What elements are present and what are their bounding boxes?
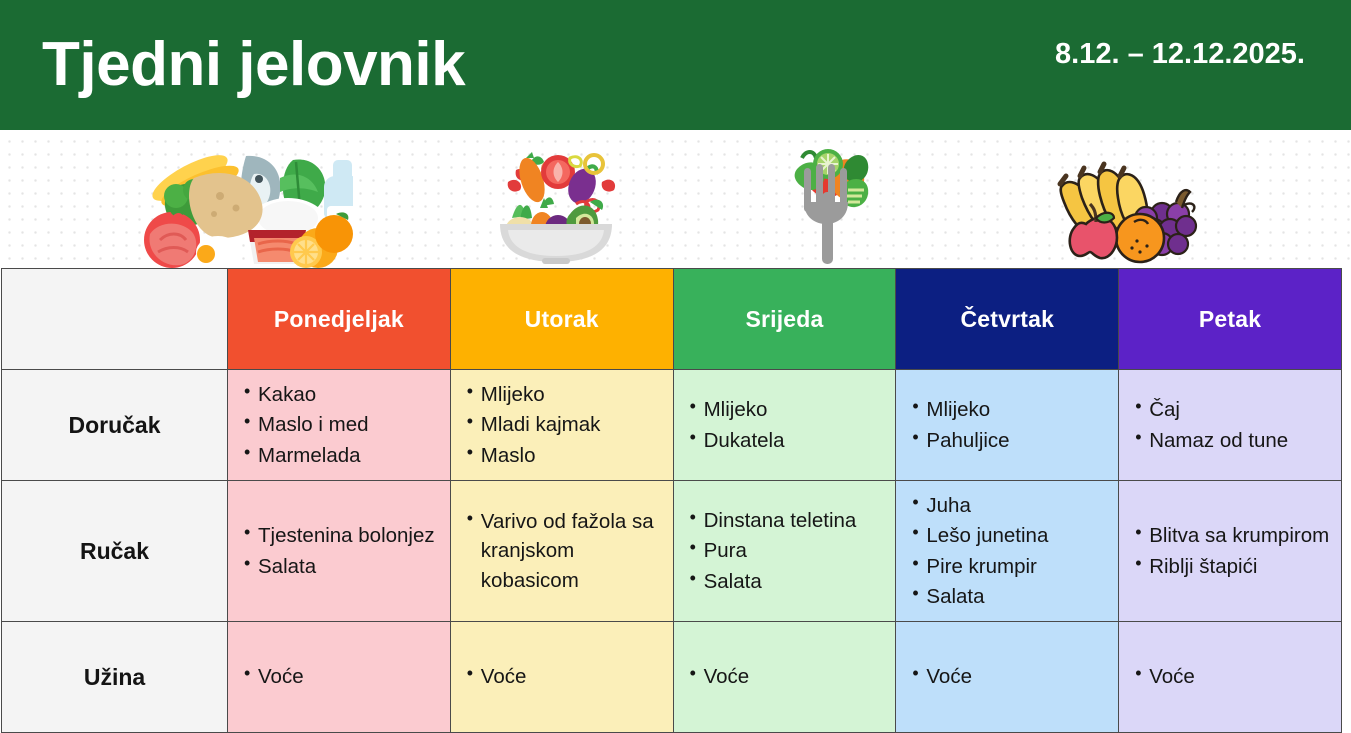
menu-item-list: KakaoMaslo i medMarmelada bbox=[228, 380, 450, 469]
table-header-row: Ponedjeljak Utorak Srijeda Četvrtak Peta… bbox=[2, 269, 1342, 370]
menu-item-list: Dinstana teletinaPuraSalata bbox=[674, 506, 896, 595]
menu-item-list: Voće bbox=[1119, 662, 1341, 691]
menu-item: Lešo junetina bbox=[912, 521, 1118, 550]
menu-cell-lunch-tuesday: Varivo od fažola sa kranjskom kobasicom bbox=[450, 481, 673, 622]
menu-item-list: MlijekoDukatela bbox=[674, 395, 896, 454]
menu-cell-lunch-thursday: JuhaLešo junetinaPire krumpirSalata bbox=[896, 481, 1119, 622]
menu-cell-snack-tuesday: Voće bbox=[450, 622, 673, 733]
table-row-lunch: Ručak Tjestenina bolonjezSalata Varivo o… bbox=[2, 481, 1342, 622]
menu-item: Pura bbox=[690, 536, 896, 565]
menu-item: Voće bbox=[467, 662, 673, 691]
weekly-menu-page: Tjedni jelovnik 8.12. – 12.12.2025. bbox=[0, 0, 1351, 729]
menu-cell-snack-monday: Voće bbox=[228, 622, 451, 733]
menu-item: Pahuljice bbox=[912, 426, 1118, 455]
day-header-friday: Petak bbox=[1119, 269, 1342, 370]
menu-item: Marmelada bbox=[244, 441, 450, 470]
header-banner: Tjedni jelovnik 8.12. – 12.12.2025. bbox=[0, 0, 1351, 130]
menu-cell-lunch-monday: Tjestenina bolonjezSalata bbox=[228, 481, 451, 622]
menu-item: Riblji štapići bbox=[1135, 552, 1341, 581]
menu-item-list: ČajNamaz od tune bbox=[1119, 395, 1341, 454]
menu-cell-breakfast-tuesday: MlijekoMladi kajmakMaslo bbox=[450, 370, 673, 481]
menu-item: Tjestenina bolonjez bbox=[244, 521, 450, 550]
day-header-wednesday: Srijeda bbox=[673, 269, 896, 370]
menu-cell-breakfast-friday: ČajNamaz od tune bbox=[1119, 370, 1342, 481]
menu-cell-breakfast-wednesday: MlijekoDukatela bbox=[673, 370, 896, 481]
menu-item: Dinstana teletina bbox=[690, 506, 896, 535]
menu-item-list: Tjestenina bolonjezSalata bbox=[228, 521, 450, 580]
vegetable-salad-bowl-illustration bbox=[486, 146, 626, 264]
menu-item: Maslo bbox=[467, 441, 673, 470]
table-row-breakfast: Doručak KakaoMaslo i medMarmelada Mlijek… bbox=[2, 370, 1342, 481]
page-title: Tjedni jelovnik bbox=[42, 34, 465, 96]
weekly-menu-table: Ponedjeljak Utorak Srijeda Četvrtak Peta… bbox=[1, 268, 1342, 733]
menu-item-list: MlijekoMladi kajmakMaslo bbox=[451, 380, 673, 469]
menu-cell-breakfast-monday: KakaoMaslo i medMarmelada bbox=[228, 370, 451, 481]
menu-item: Voće bbox=[244, 662, 450, 691]
menu-item-list: Voće bbox=[451, 662, 673, 691]
healthy-food-assortment-illustration bbox=[128, 148, 353, 268]
menu-item: Kakao bbox=[244, 380, 450, 409]
table-corner-cell bbox=[2, 269, 228, 370]
fork-with-vegetables-illustration bbox=[782, 140, 878, 266]
menu-item: Salata bbox=[244, 552, 450, 581]
day-header-thursday: Četvrtak bbox=[896, 269, 1119, 370]
menu-item-list: Blitva sa krumpiromRiblji štapići bbox=[1119, 521, 1341, 580]
menu-item: Salata bbox=[690, 567, 896, 596]
menu-item: Mlijeko bbox=[690, 395, 896, 424]
menu-item: Mlijeko bbox=[467, 380, 673, 409]
menu-item: Varivo od fažola sa kranjskom kobasicom bbox=[467, 507, 673, 594]
table-row-snack: Užina Voće Voće Voće Voće Voće bbox=[2, 622, 1342, 733]
menu-item: Juha bbox=[912, 491, 1118, 520]
meal-label-lunch: Ručak bbox=[2, 481, 228, 622]
menu-item: Dukatela bbox=[690, 426, 896, 455]
menu-cell-snack-friday: Voće bbox=[1119, 622, 1342, 733]
menu-item-list: Voće bbox=[674, 662, 896, 691]
menu-item: Maslo i med bbox=[244, 410, 450, 439]
menu-item: Salata bbox=[912, 582, 1118, 611]
menu-item: Mlijeko bbox=[912, 395, 1118, 424]
menu-item: Voće bbox=[690, 662, 896, 691]
menu-cell-lunch-friday: Blitva sa krumpiromRiblji štapići bbox=[1119, 481, 1342, 622]
menu-cell-breakfast-thursday: MlijekoPahuljice bbox=[896, 370, 1119, 481]
menu-item: Blitva sa krumpirom bbox=[1135, 521, 1341, 550]
menu-item: Čaj bbox=[1135, 395, 1341, 424]
menu-item: Namaz od tune bbox=[1135, 426, 1341, 455]
date-range-label: 8.12. – 12.12.2025. bbox=[1055, 38, 1305, 93]
menu-item-list: Varivo od fažola sa kranjskom kobasicom bbox=[451, 507, 673, 594]
day-header-tuesday: Utorak bbox=[450, 269, 673, 370]
menu-item-list: Voće bbox=[228, 662, 450, 691]
day-header-monday: Ponedjeljak bbox=[228, 269, 451, 370]
menu-item-list: MlijekoPahuljice bbox=[896, 395, 1118, 454]
meal-label-snack: Užina bbox=[2, 622, 228, 733]
menu-cell-snack-wednesday: Voće bbox=[673, 622, 896, 733]
menu-item-list: JuhaLešo junetinaPire krumpirSalata bbox=[896, 491, 1118, 610]
menu-cell-lunch-wednesday: Dinstana teletinaPuraSalata bbox=[673, 481, 896, 622]
menu-item: Mladi kajmak bbox=[467, 410, 673, 439]
illustration-band bbox=[0, 130, 1351, 268]
fruit-assortment-illustration bbox=[1046, 152, 1198, 264]
menu-cell-snack-thursday: Voće bbox=[896, 622, 1119, 733]
meal-label-breakfast: Doručak bbox=[2, 370, 228, 481]
menu-item: Voće bbox=[1135, 662, 1341, 691]
menu-item: Pire krumpir bbox=[912, 552, 1118, 581]
menu-item-list: Voće bbox=[896, 662, 1118, 691]
menu-item: Voće bbox=[912, 662, 1118, 691]
